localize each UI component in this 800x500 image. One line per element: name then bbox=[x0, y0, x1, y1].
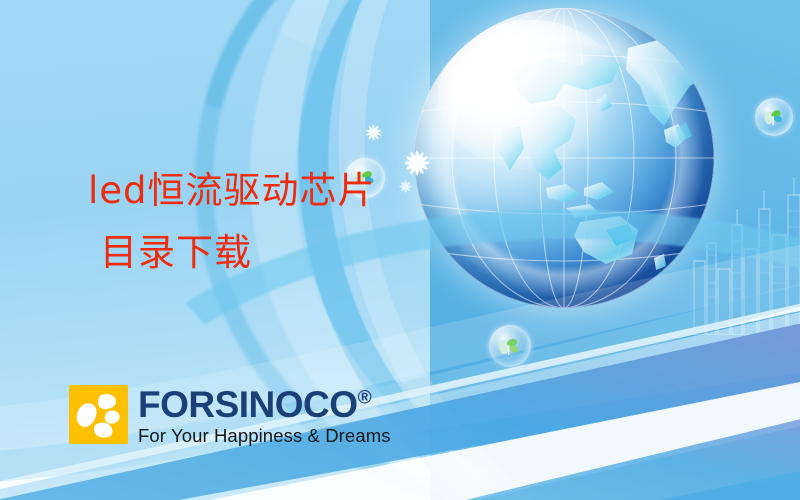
soap-bubble-icon-bottom bbox=[489, 325, 531, 367]
daisy-sparkle-icon-small bbox=[365, 124, 382, 141]
soap-bubble-icon-top-right bbox=[755, 98, 793, 136]
cover-title: led恒流驱动芯片 目录下载 bbox=[88, 160, 508, 284]
company-logo: FORSINOCO® For Your Happiness & Dreams bbox=[69, 385, 391, 446]
forsinoco-flower-icon bbox=[69, 385, 128, 444]
brand-name-text: FORSINOCO bbox=[138, 384, 358, 425]
title-line-2: 目录下载 bbox=[88, 222, 508, 284]
slide-canvas: led恒流驱动芯片 目录下载 FORSINOCO® bbox=[0, 0, 800, 500]
brand-name: FORSINOCO® bbox=[138, 386, 391, 424]
brand-tagline: For Your Happiness & Dreams bbox=[138, 425, 391, 446]
logo-wordmark: FORSINOCO® For Your Happiness & Dreams bbox=[138, 385, 391, 446]
title-line-1: led恒流驱动芯片 bbox=[88, 160, 508, 222]
registered-trademark-icon: ® bbox=[358, 388, 372, 409]
